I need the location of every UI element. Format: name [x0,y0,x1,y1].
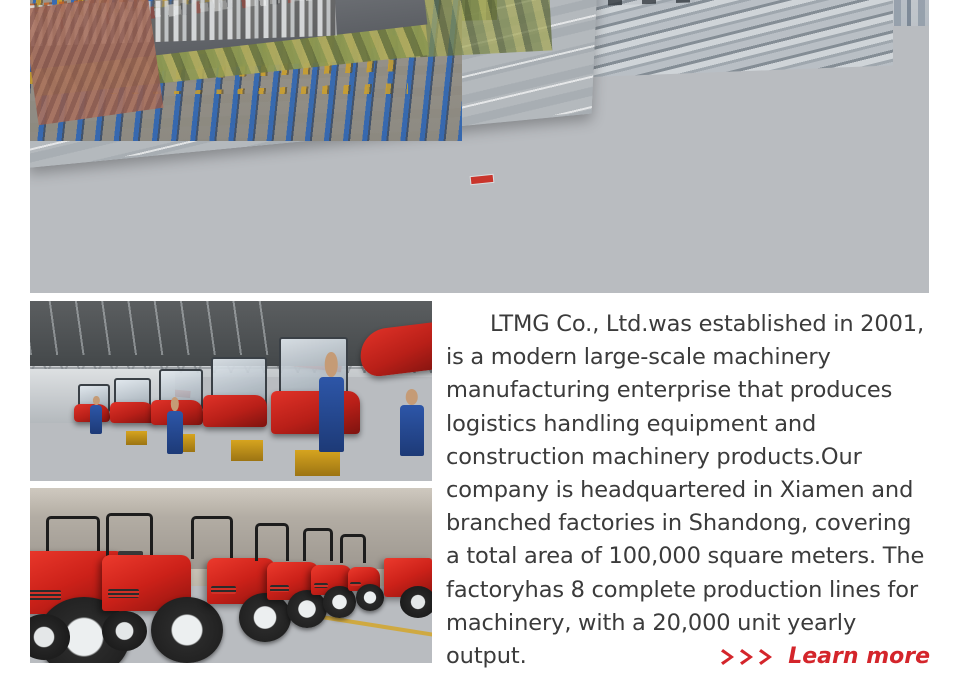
tractor-rear-wheel [400,586,432,618]
factory-worker [90,405,102,434]
assembly-stand [231,440,263,462]
assembly-stand [295,450,339,475]
tractor-roll-bar [303,528,333,561]
chevron-right-icon [721,647,783,667]
aerial-factory-photo [30,0,929,293]
tractor-rear-wheel [239,593,291,642]
tractor-grille [211,586,236,593]
tractor-grille [314,583,328,588]
tractor-roll-bar [191,516,233,559]
learn-more-cta[interactable]: Learn more [446,644,930,669]
red-roof-workshop [30,0,163,125]
factory-worker [319,377,343,453]
assembly-line-photo [30,301,432,481]
about-text-column: LTMG Co., Ltd.was established in 2001, i… [446,308,930,673]
tractor-body [203,395,267,427]
factory-worker [400,405,424,455]
tractor-roll-bar [340,534,366,563]
tractor-front-wheel [102,611,146,651]
tractor-rear-wheel [151,597,223,664]
factory-worker [167,411,183,454]
learn-more-link[interactable]: Learn more [788,644,930,669]
tractor-grille [30,590,61,600]
company-profile-page: LTMG Co., Ltd.was established in 2001, i… [0,0,960,675]
tractor-body [110,402,154,424]
tractor-grille [108,589,140,598]
tractor-roll-bar [255,523,289,561]
about-paragraph: LTMG Co., Ltd.was established in 2001, i… [446,308,930,673]
assembly-stand [126,431,146,445]
floor-conveyor-rails [30,301,271,355]
finished-tractors-photo [30,488,432,663]
factory-signage [470,175,493,184]
tractor-body [271,391,359,434]
tractor-grille [270,585,289,591]
tractor-grille [350,582,362,586]
tractor-rear-wheel [287,590,327,629]
tractor-rear-wheel [356,584,384,610]
